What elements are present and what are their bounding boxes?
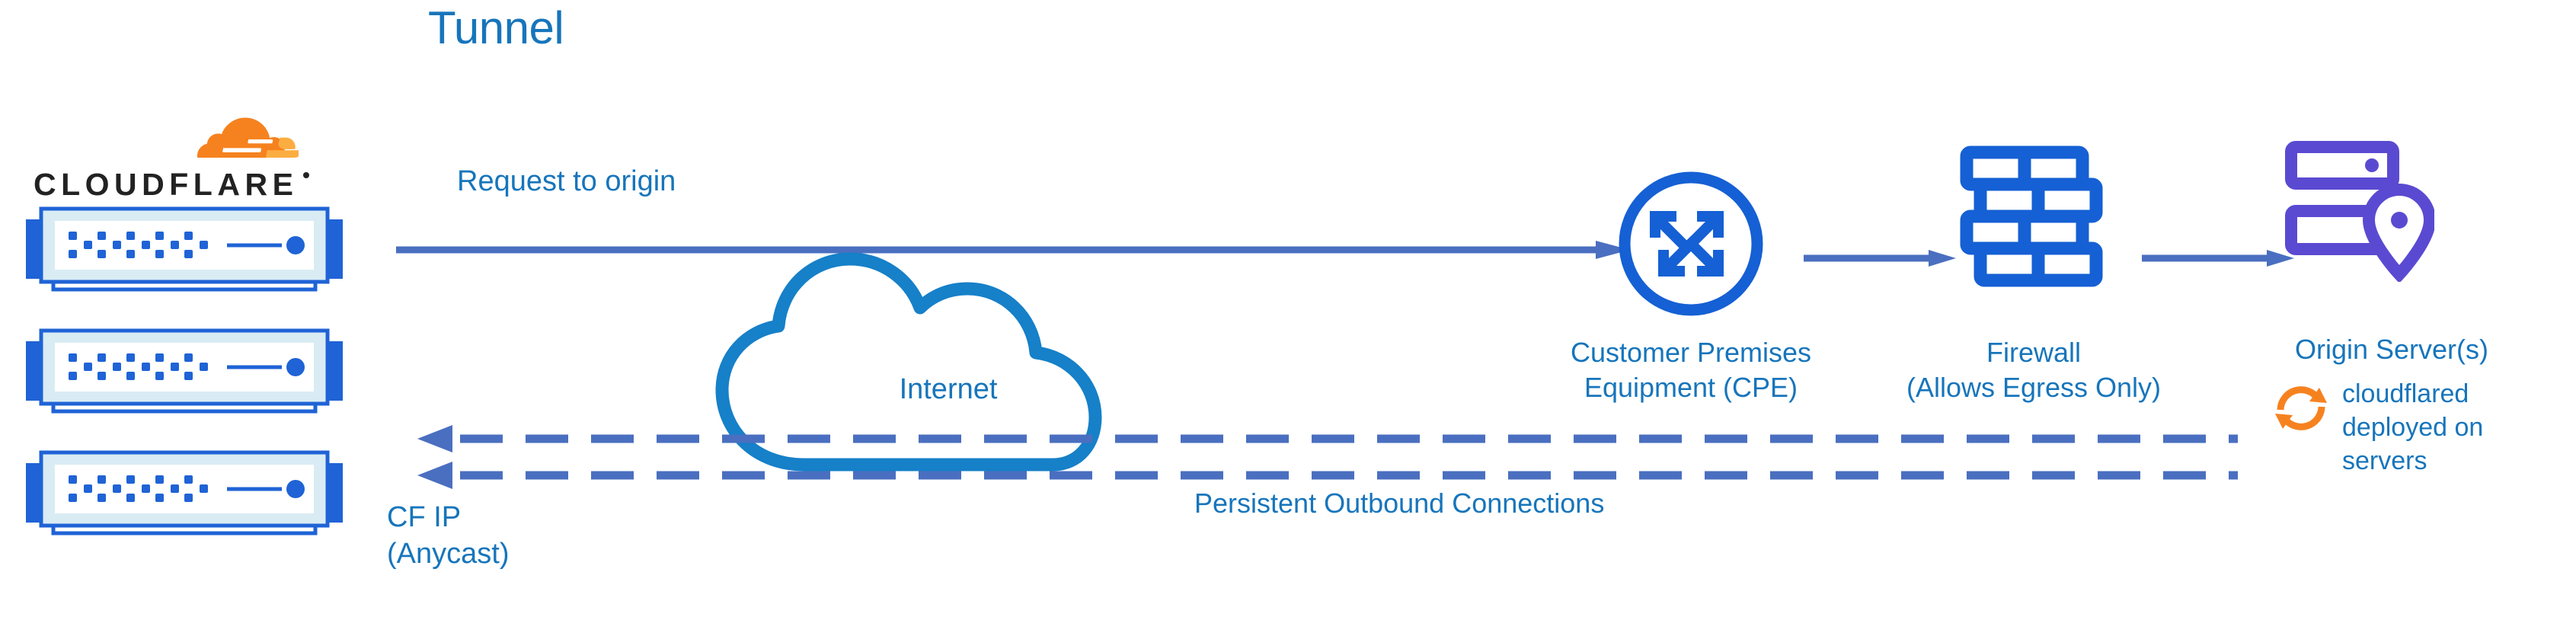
cpe-label: Customer Premises Equipment (CPE) bbox=[1539, 335, 1843, 405]
persistent-outbound-connections-label: Persistent Outbound Connections bbox=[1194, 488, 1604, 519]
origin-server-label: Origin Server(s) bbox=[2266, 334, 2517, 366]
cloudflare-wordmark: CLOUDFLARE bbox=[34, 168, 315, 203]
cloudflared-line-3: servers bbox=[2342, 444, 2483, 478]
firewall-label-line-1: Firewall bbox=[1881, 335, 2186, 370]
persistent-connection-line-top bbox=[417, 425, 2238, 452]
tunnel-diagram-canvas: Tunnel CLOUDFLARE bbox=[0, 0, 2576, 617]
firewall-label-line-2: (Allows Egress Only) bbox=[1881, 370, 2186, 405]
svg-text:CLOUDFLARE: CLOUDFLARE bbox=[34, 168, 298, 202]
page-title: Tunnel bbox=[428, 2, 564, 54]
request-to-origin-label: Request to origin bbox=[457, 165, 676, 198]
cloudflare-cloud-icon bbox=[177, 107, 299, 168]
arrow-firewall-to-origin bbox=[2142, 249, 2294, 267]
rack-server-icon bbox=[17, 206, 352, 301]
internet-label: Internet bbox=[842, 373, 1055, 406]
rack-server-icon bbox=[17, 328, 352, 423]
firewall-label: Firewall (Allows Egress Only) bbox=[1881, 335, 2186, 405]
rack-server-icon bbox=[17, 449, 352, 545]
refresh-sync-icon bbox=[2274, 383, 2328, 433]
arrow-cpe-to-firewall bbox=[1804, 249, 1956, 267]
cpe-label-line-1: Customer Premises bbox=[1539, 335, 1843, 370]
cf-ip-anycast-label: CF IP (Anycast) bbox=[387, 499, 509, 572]
cf-ip-line-1: CF IP bbox=[387, 499, 509, 535]
cloudflare-logo: CLOUDFLARE bbox=[24, 107, 314, 206]
origin-server-pin-icon bbox=[2285, 141, 2434, 282]
cloudflared-label: cloudflared deployed on servers bbox=[2342, 377, 2483, 478]
cloudflared-line-2: deployed on bbox=[2342, 411, 2483, 444]
persistent-connection-line-bottom bbox=[417, 462, 2238, 489]
cpe-label-line-2: Equipment (CPE) bbox=[1539, 370, 1843, 405]
four-arrows-circle-icon bbox=[1616, 169, 1766, 318]
cf-ip-line-2: (Anycast) bbox=[387, 535, 509, 572]
cloudflared-line-1: cloudflared bbox=[2342, 377, 2483, 411]
brick-wall-icon bbox=[1959, 145, 2104, 289]
